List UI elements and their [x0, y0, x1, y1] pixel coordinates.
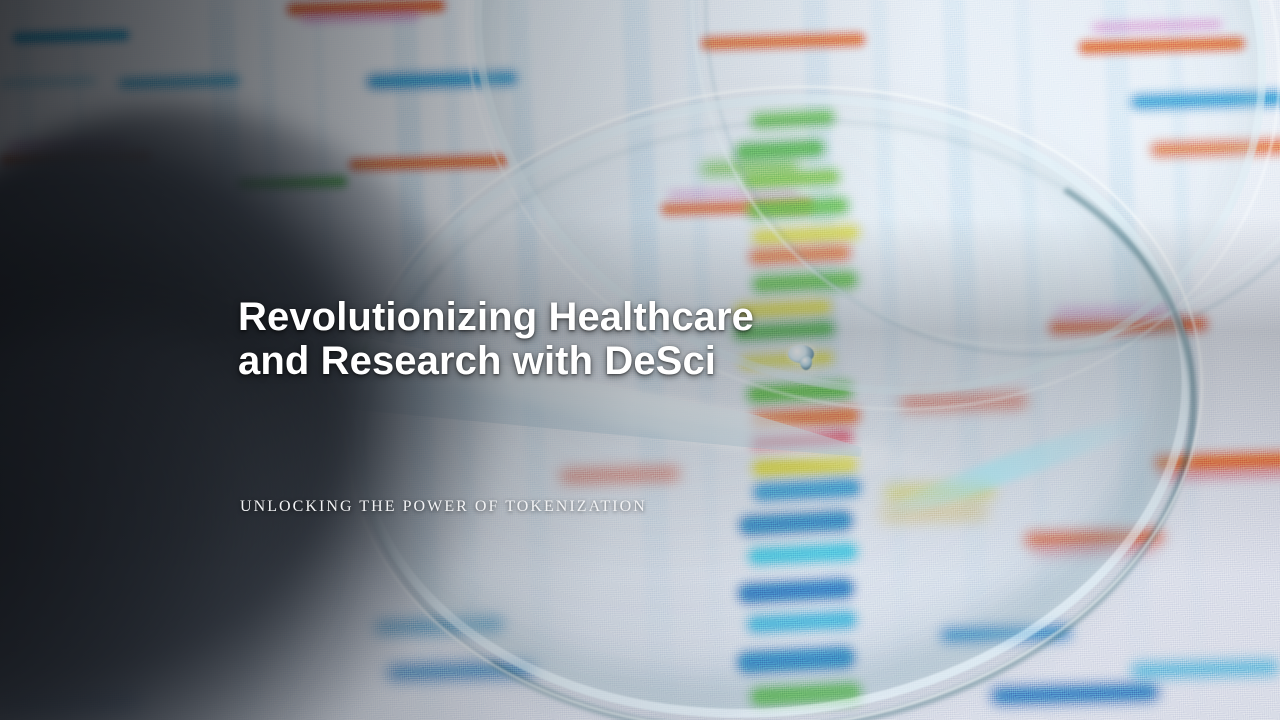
hero-banner: Revolutionizing Healthcare and Research …: [0, 0, 1280, 720]
banner-subtitle: UNLOCKING THE POWER OF TOKENIZATION: [240, 497, 647, 517]
banner-content: Revolutionizing Healthcare and Research …: [238, 0, 998, 720]
page-title: Revolutionizing Healthcare and Research …: [238, 295, 754, 383]
